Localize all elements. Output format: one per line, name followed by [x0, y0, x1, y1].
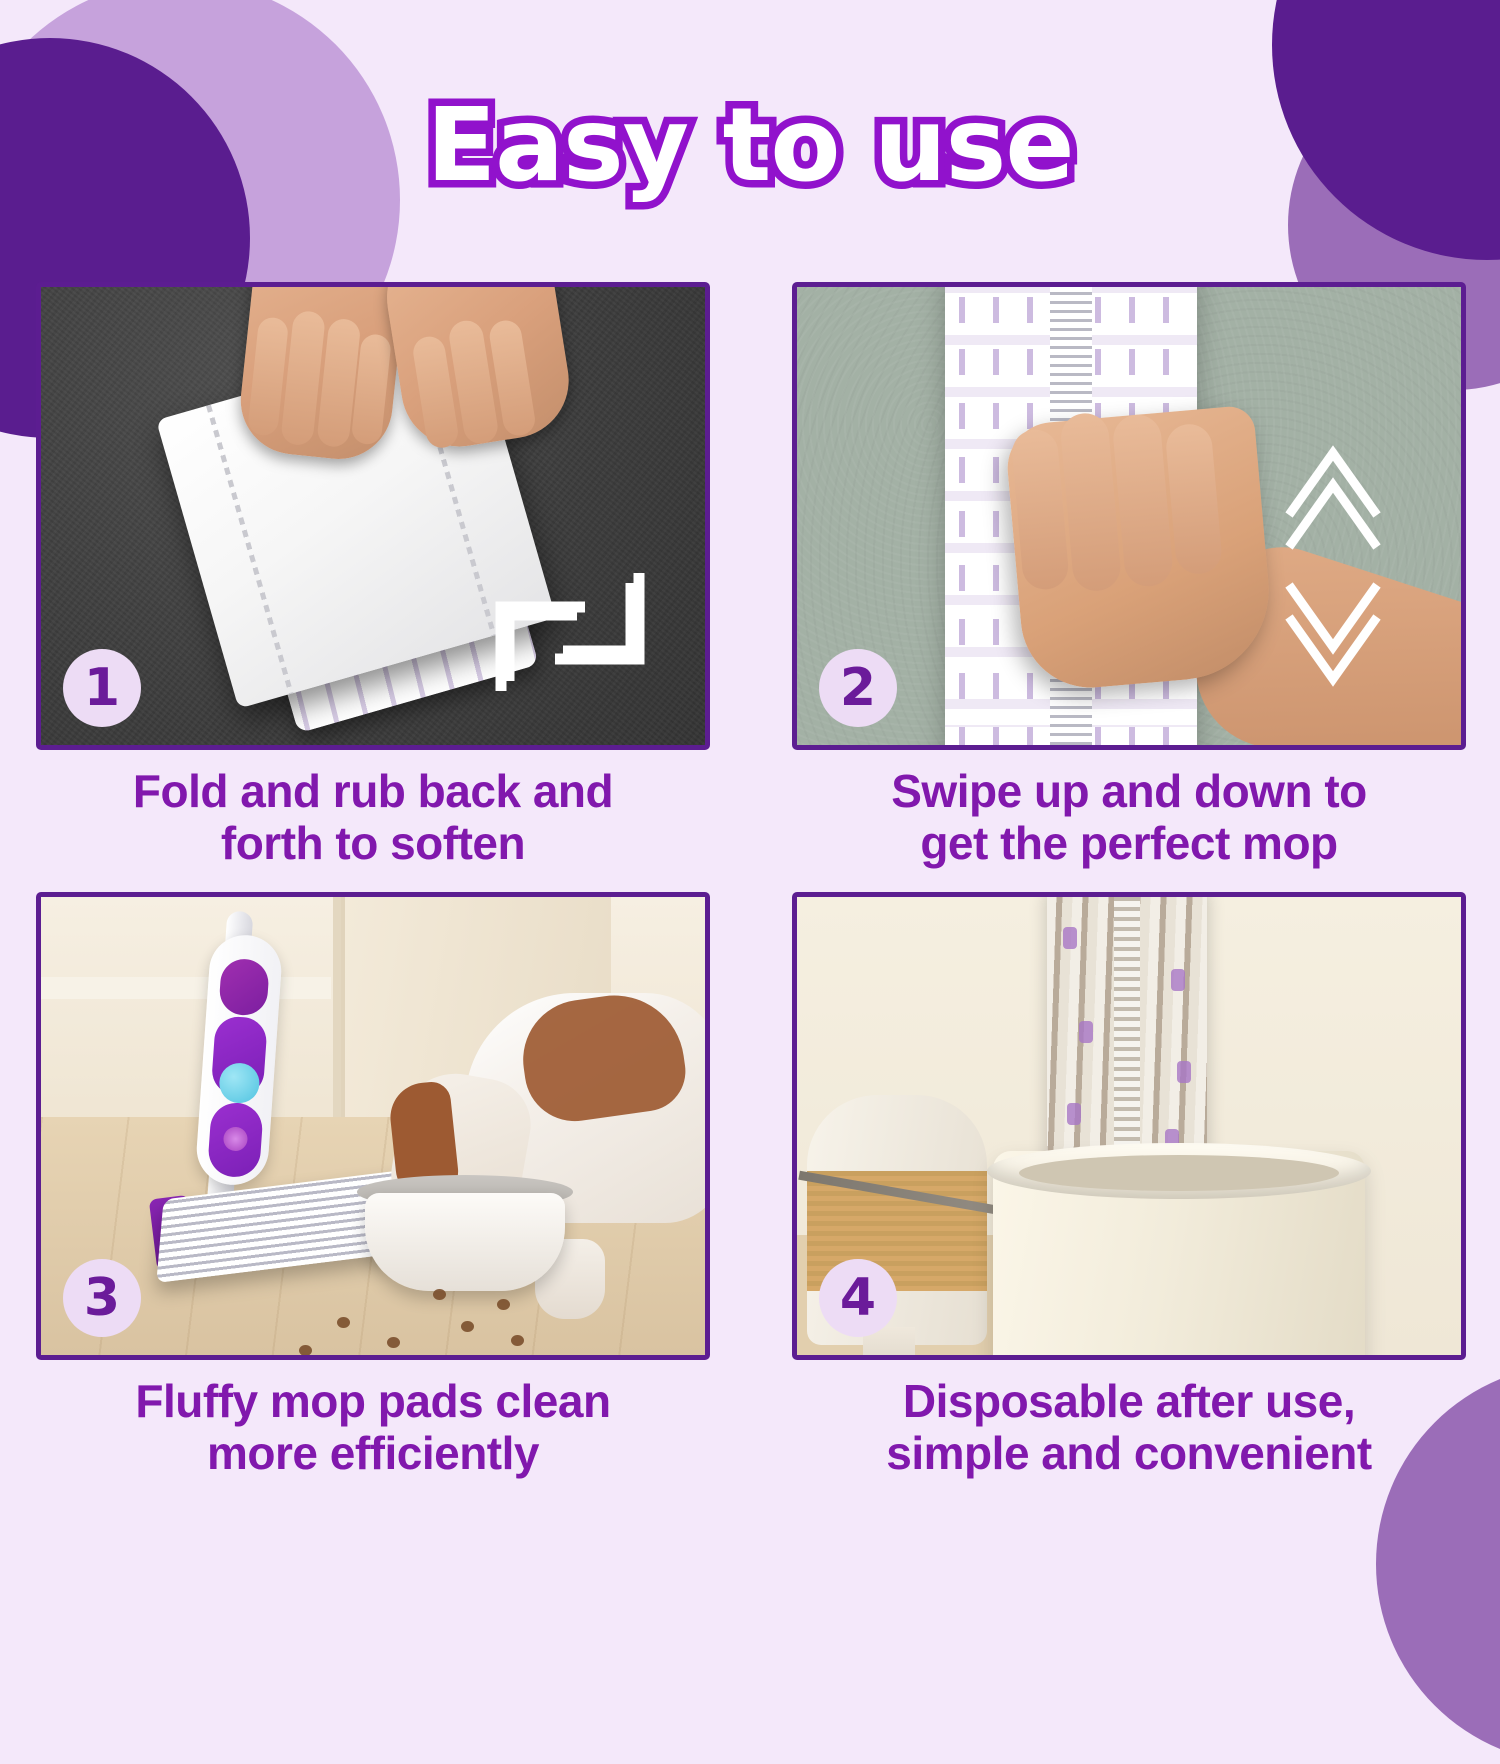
waste-bin-opening	[1019, 1155, 1339, 1191]
step-caption-2-line2: get the perfect mop	[792, 818, 1466, 870]
step-caption-4-line1: Disposable after use,	[792, 1376, 1466, 1428]
mop-top-button	[218, 958, 270, 1017]
used-mop-pad	[1047, 892, 1207, 1181]
step-caption-3-line1: Fluffy mop pads clean	[36, 1376, 710, 1428]
step-caption-1-line2: forth to soften	[36, 818, 710, 870]
step-photo-4: 4	[792, 892, 1466, 1360]
steps-grid: 1 Fold and rub back and forth to soften	[36, 282, 1466, 1480]
step-badge-4: 4	[819, 1259, 897, 1337]
step-caption-4-line2: simple and convenient	[792, 1428, 1466, 1480]
step-caption-1: Fold and rub back and forth to soften	[36, 766, 710, 870]
hand-pressing-pad	[1004, 405, 1276, 694]
dog-bowl	[365, 1193, 565, 1291]
step-caption-3: Fluffy mop pads clean more efficiently	[36, 1376, 710, 1480]
step-caption-2: Swipe up and down to get the perfect mop	[792, 766, 1466, 870]
step-caption-1-line1: Fold and rub back and	[36, 766, 710, 818]
used-mop-pad-seam	[1114, 892, 1140, 1181]
double-diagonal-arrow-icon	[481, 559, 661, 709]
baseboard	[41, 977, 331, 999]
step-badge-2: 2	[819, 649, 897, 727]
step-photo-3: 3	[36, 892, 710, 1360]
step-badge-1: 1	[63, 649, 141, 727]
step-caption-2-line1: Swipe up and down to	[792, 766, 1466, 818]
step-photo-2: 2	[792, 282, 1466, 750]
step-badge-3: 3	[63, 1259, 141, 1337]
step-card-4: 4 Disposable after use, simple and conve…	[792, 892, 1466, 1480]
step-photo-1: 1	[36, 282, 710, 750]
page-title: Easy to use	[426, 92, 1073, 199]
step-card-2: 2 Swipe up and down to get the perfect m…	[792, 282, 1466, 870]
step-card-1: 1 Fold and rub back and forth to soften	[36, 282, 710, 870]
step-card-3: 3 Fluffy mop pads clean more efficiently	[36, 892, 710, 1480]
page-header: Easy to use	[0, 92, 1500, 199]
step-caption-3-line2: more efficiently	[36, 1428, 710, 1480]
step-caption-4: Disposable after use, simple and conveni…	[792, 1376, 1466, 1480]
up-down-chevron-icon	[1273, 437, 1393, 687]
